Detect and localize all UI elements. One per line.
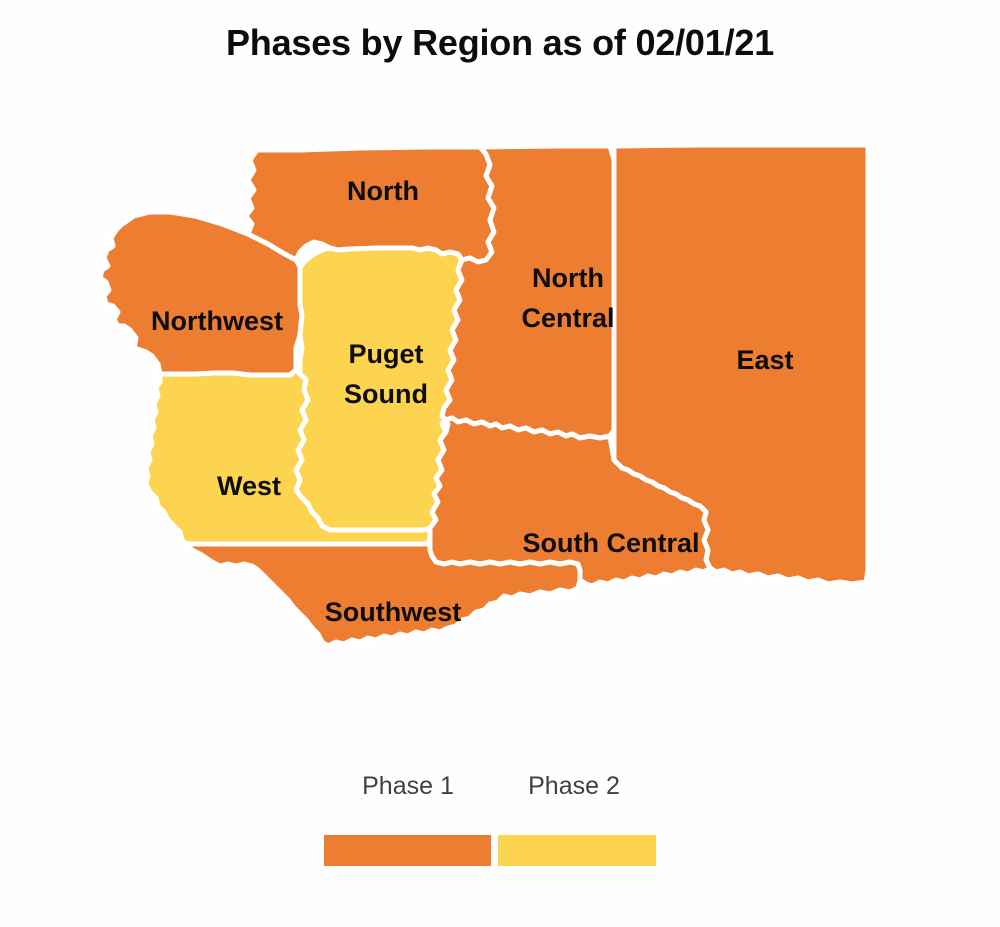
washington-state-region-map: North Northwest North Central East Puget… xyxy=(0,120,1000,700)
legend-label-phase-1: Phase 1 xyxy=(324,772,492,801)
page-title: Phases by Region as of 02/01/21 xyxy=(0,22,1000,64)
region-shape-north[interactable] xyxy=(246,147,494,262)
legend-label-row: Phase 1 Phase 2 xyxy=(324,772,656,801)
legend-swatch-phase-1[interactable] xyxy=(324,835,491,866)
legend: Phase 1 Phase 2 xyxy=(0,760,1000,880)
legend-swatch-phase-2[interactable] xyxy=(498,835,656,866)
legend-swatch-row xyxy=(324,835,656,866)
legend-label-phase-2: Phase 2 xyxy=(492,772,656,801)
phases-by-region-map-chart: Phases by Region as of 02/01/21 North No… xyxy=(0,0,1000,927)
